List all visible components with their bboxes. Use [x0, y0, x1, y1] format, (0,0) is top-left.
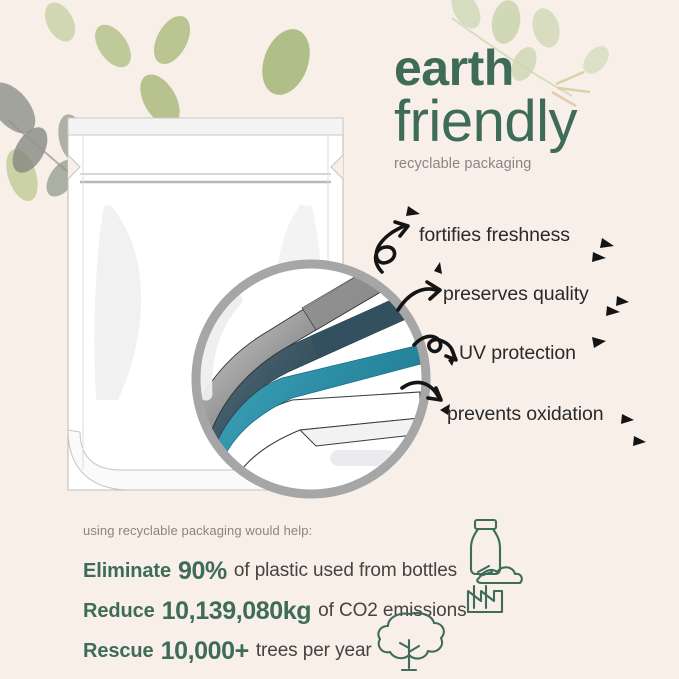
tree-icon: [378, 613, 443, 670]
infographic-canvas: earth friendly recyclable packaging fort…: [0, 0, 679, 679]
bottle-icon: [471, 520, 500, 574]
factory-icon: [468, 566, 522, 612]
stat-icons: [0, 0, 679, 679]
